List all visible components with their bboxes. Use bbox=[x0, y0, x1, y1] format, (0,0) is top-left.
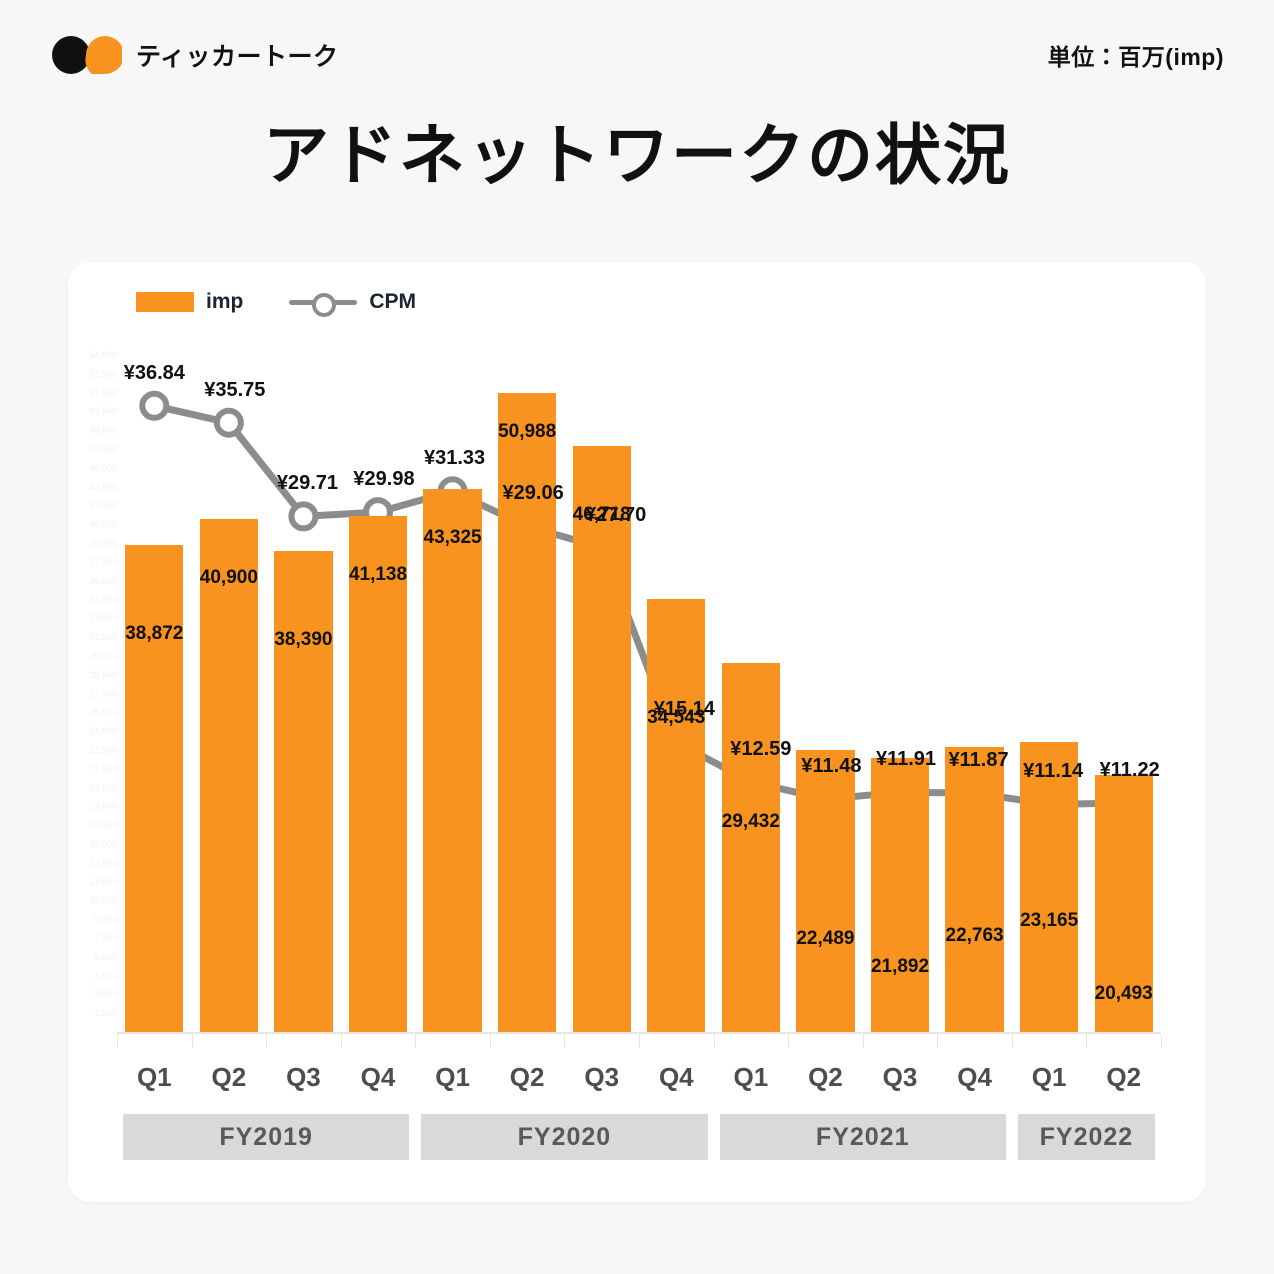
bar-value-label: 22,763 bbox=[946, 925, 1004, 947]
y-axis-tick-label: 33,000 bbox=[89, 613, 117, 623]
y-axis-tick-label: 30,000 bbox=[89, 651, 117, 661]
plot-area: 01,5003,0004,5006,0007,5009,00010,50012,… bbox=[68, 262, 1206, 1202]
x-axis-quarter-label: Q1 bbox=[137, 1062, 172, 1093]
x-axis-quarter-label: Q3 bbox=[584, 1062, 619, 1093]
cpm-value-label: ¥35.75 bbox=[204, 379, 265, 402]
y-axis-tick-label: 36,000 bbox=[89, 576, 117, 586]
y-axis-tick-label: 6,000 bbox=[94, 952, 117, 962]
cpm-value-label: ¥36.84 bbox=[124, 362, 185, 385]
y-axis-tick-label: 22,500 bbox=[89, 745, 117, 755]
cpm-value-label: ¥15.14 bbox=[654, 698, 715, 721]
x-axis-quarter-label: Q2 bbox=[1106, 1062, 1141, 1093]
bar-value-label: 41,138 bbox=[349, 564, 407, 586]
x-axis-tick bbox=[1161, 1034, 1162, 1048]
bar-value-label: 38,872 bbox=[125, 623, 183, 645]
x-axis-tick bbox=[1086, 1034, 1087, 1048]
x-axis-tick bbox=[639, 1034, 640, 1048]
y-axis-tick-label: 43,500 bbox=[89, 482, 117, 492]
y-axis-tick-label: 28,500 bbox=[89, 670, 117, 680]
y-axis-tick-label: 42,000 bbox=[89, 500, 117, 510]
y-axis-tick-label: 31,500 bbox=[89, 632, 117, 642]
x-axis-quarter-label: Q2 bbox=[212, 1062, 247, 1093]
cpm-value-label: ¥29.06 bbox=[503, 482, 564, 505]
unit-note: 単位：百万(imp) bbox=[1048, 38, 1224, 72]
y-axis-tick-label: 27,000 bbox=[89, 689, 117, 699]
cpm-value-label: ¥11.87 bbox=[949, 749, 1009, 772]
bar bbox=[274, 551, 332, 1032]
fiscal-year-band: FY2020 bbox=[421, 1114, 707, 1160]
y-axis-tick-label: 13,500 bbox=[89, 858, 117, 868]
bar bbox=[647, 599, 705, 1032]
bar-value-label: 21,892 bbox=[871, 956, 929, 978]
y-axis-tick-label: 19,500 bbox=[89, 783, 117, 793]
x-axis-quarter-label: Q2 bbox=[510, 1062, 545, 1093]
y-axis-tick-label: 21,000 bbox=[89, 764, 117, 774]
bar-value-label: 40,900 bbox=[200, 567, 258, 589]
x-axis-tick bbox=[937, 1034, 938, 1048]
bar-value-label: 29,432 bbox=[722, 811, 780, 833]
y-axis-tick-label: 39,000 bbox=[89, 538, 117, 548]
x-axis-quarter-label: Q2 bbox=[808, 1062, 843, 1093]
x-axis-tick bbox=[266, 1034, 267, 1048]
x-axis-quarter-label: Q1 bbox=[1032, 1062, 1067, 1093]
bar bbox=[349, 516, 407, 1032]
x-axis-quarter-label: Q1 bbox=[435, 1062, 470, 1093]
y-axis-tick-label: 9,000 bbox=[94, 914, 117, 924]
fiscal-year-band: FY2021 bbox=[720, 1114, 1006, 1160]
y-axis-tick-label: 48,000 bbox=[89, 425, 117, 435]
y-axis-tick-label: 34,500 bbox=[89, 594, 117, 604]
cpm-value-label: ¥29.98 bbox=[353, 468, 414, 491]
x-axis-tick bbox=[415, 1034, 416, 1048]
y-axis-tick-label: 18,000 bbox=[89, 801, 117, 811]
x-axis-tick bbox=[564, 1034, 565, 1048]
x-axis-tick bbox=[863, 1034, 864, 1048]
y-axis-tick-label: 7,500 bbox=[94, 933, 117, 943]
y-axis-tick-label: 24,000 bbox=[89, 726, 117, 736]
cpm-value-label: ¥29.71 bbox=[277, 472, 338, 495]
page-header: ティッカートーク 単位：百万(imp) bbox=[0, 0, 1274, 110]
y-axis-tick-label: 52,500 bbox=[89, 369, 117, 379]
chart-card: imp CPM 01,5003,0004,5006,0007,5009,0001… bbox=[68, 262, 1206, 1202]
bar-value-label: 20,493 bbox=[1095, 983, 1153, 1005]
x-axis-tick bbox=[1012, 1034, 1013, 1048]
cpm-marker bbox=[217, 411, 241, 435]
bar-value-label: 38,390 bbox=[274, 629, 332, 651]
bar bbox=[871, 758, 929, 1032]
x-axis-quarter-label: Q4 bbox=[361, 1062, 396, 1093]
y-axis-tick-label: 54,000 bbox=[89, 350, 117, 360]
y-axis-tick-label: 10,500 bbox=[89, 895, 117, 905]
cpm-value-label: ¥12.59 bbox=[730, 738, 791, 761]
x-axis-quarter-label: Q3 bbox=[286, 1062, 321, 1093]
y-axis-tick-label: 12,000 bbox=[89, 877, 117, 887]
y-axis-tick-label: 4,500 bbox=[94, 971, 117, 981]
x-axis-quarter-label: Q3 bbox=[883, 1062, 918, 1093]
bar bbox=[1020, 742, 1078, 1032]
cpm-value-label: ¥31.33 bbox=[424, 447, 485, 470]
fiscal-year-band: FY2019 bbox=[123, 1114, 409, 1160]
y-axis-tick-label: 49,500 bbox=[89, 406, 117, 416]
bar-value-label: 22,489 bbox=[796, 928, 854, 950]
bar-value-label: 43,325 bbox=[424, 527, 482, 549]
cpm-marker bbox=[291, 504, 315, 528]
y-axis-tick-label: 40,500 bbox=[89, 519, 117, 529]
bar bbox=[200, 519, 258, 1032]
y-axis-tick-label: 15,000 bbox=[89, 839, 117, 849]
x-axis-tick bbox=[192, 1034, 193, 1048]
x-axis-quarter-label: Q4 bbox=[659, 1062, 694, 1093]
cpm-value-label: ¥11.91 bbox=[876, 748, 936, 771]
bar-value-label: 23,165 bbox=[1020, 910, 1078, 932]
y-axis-tick-label: 16,500 bbox=[89, 820, 117, 830]
bar bbox=[125, 545, 183, 1032]
y-axis-tick-label: 3,000 bbox=[94, 989, 117, 999]
bar bbox=[722, 663, 780, 1032]
brand: ティッカートーク bbox=[50, 36, 339, 74]
y-axis-tick-label: 1,500 bbox=[94, 1008, 117, 1018]
cpm-value-label: ¥11.22 bbox=[1100, 759, 1160, 782]
x-axis-tick bbox=[714, 1034, 715, 1048]
x-axis-quarter-label: Q1 bbox=[734, 1062, 769, 1093]
fiscal-year-band: FY2022 bbox=[1018, 1114, 1155, 1160]
cpm-marker bbox=[142, 394, 166, 418]
x-axis-tick bbox=[788, 1034, 789, 1048]
speech-bubble-logo-icon bbox=[50, 36, 122, 74]
y-axis-tick-label: 45,000 bbox=[89, 463, 117, 473]
bar bbox=[573, 446, 631, 1032]
bar bbox=[796, 750, 854, 1032]
bar bbox=[423, 489, 481, 1032]
x-axis-tick bbox=[490, 1034, 491, 1048]
x-axis-tick bbox=[117, 1034, 118, 1048]
bar-value-label: 50,988 bbox=[498, 421, 556, 443]
y-axis-tick-label: 37,500 bbox=[89, 557, 117, 567]
bar bbox=[945, 747, 1003, 1032]
cpm-value-label: ¥11.48 bbox=[801, 755, 861, 778]
page-title: アドネットワークの状況 bbox=[0, 118, 1274, 194]
y-axis-tick-label: 25,500 bbox=[89, 707, 117, 717]
chart-page: ティッカートーク 単位：百万(imp) アドネットワークの状況 imp CPM … bbox=[0, 0, 1274, 1274]
cpm-value-label: ¥11.14 bbox=[1023, 760, 1083, 783]
cpm-value-label: ¥27.70 bbox=[585, 504, 646, 527]
x-axis-quarter-label: Q4 bbox=[957, 1062, 992, 1093]
y-axis-tick-label: 51,000 bbox=[89, 388, 117, 398]
brand-name: ティッカートーク bbox=[136, 37, 339, 73]
y-axis-tick-label: 46,500 bbox=[89, 444, 117, 454]
x-axis-tick bbox=[341, 1034, 342, 1048]
